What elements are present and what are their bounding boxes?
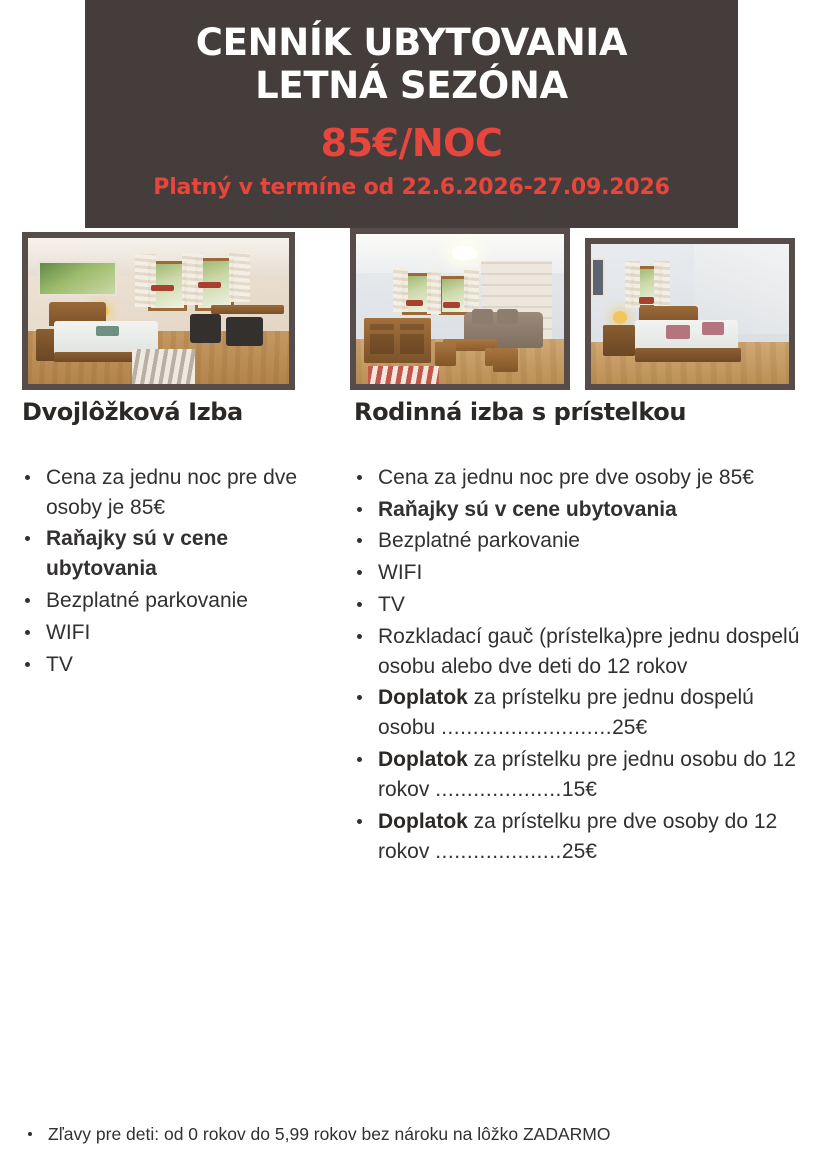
feature-list-family: Cena za jednu noc pre dve osoby je 85€ R… [354,463,804,682]
double-room-photo-image [28,238,289,384]
list-item: TV [22,650,342,680]
list-item: WIFI [22,618,342,648]
list-item: Bezplatné parkovanie [354,526,804,556]
surcharge-label: Doplatok [378,686,468,709]
list-item: Raňajky sú v cene ubytovania [354,495,804,525]
surcharge-label: Doplatok [378,748,468,771]
list-item: Rozkladací gauč (prístelka)pre jednu dos… [354,622,804,682]
family-room-bedroom-photo [585,238,795,390]
list-item: TV [354,590,804,620]
room-column-family: Rodinná izba s prístelkou Cena za jednu … [354,398,804,868]
list-item: WIFI [354,558,804,588]
family-room-living-photo-image [356,234,564,384]
room-column-double: Dvojlôžková Izba Cena za jednu noc pre d… [22,398,342,681]
feature-list-double: Cena za jednu noc pre dve osoby je 85€ R… [22,463,342,680]
list-item: Doplatok za prístelku pre jednu dospelú … [354,683,804,743]
family-room-bedroom-photo-image [591,244,789,384]
surcharge-leader: .................... [435,778,562,801]
surcharge-price: 25€ [562,840,597,863]
room-heading-family: Rodinná izba s prístelkou [354,398,804,427]
surcharge-list-family: Doplatok za prístelku pre jednu dospelú … [354,683,804,866]
family-room-living-photo [350,228,570,390]
list-item: Cena za jednu noc pre dve osoby je 85€ [22,463,342,523]
footer-discount-note: Zľavy pre deti: od 0 rokov do 5,99 rokov… [22,1123,812,1146]
surcharge-label: Doplatok [378,810,468,833]
list-item: Doplatok za prístelku pre jednu osobu do… [354,745,804,805]
surcharge-price: 15€ [562,778,597,801]
surcharge-price: 25€ [612,716,647,739]
list-item: Doplatok za prístelku pre dve osoby do 1… [354,807,804,867]
list-item: Bezplatné parkovanie [22,586,342,616]
list-item: Raňajky sú v cene ubytovania [22,524,342,584]
list-item: Cena za jednu noc pre dve osoby je 85€ [354,463,804,493]
photo-strip [0,0,820,400]
footer-note-block: Zľavy pre deti: od 0 rokov do 5,99 rokov… [22,1123,812,1146]
surcharge-leader: .................... [435,840,562,863]
surcharge-leader: ........................... [441,716,612,739]
double-room-photo [22,232,295,390]
room-heading-double: Dvojlôžková Izba [22,398,342,427]
